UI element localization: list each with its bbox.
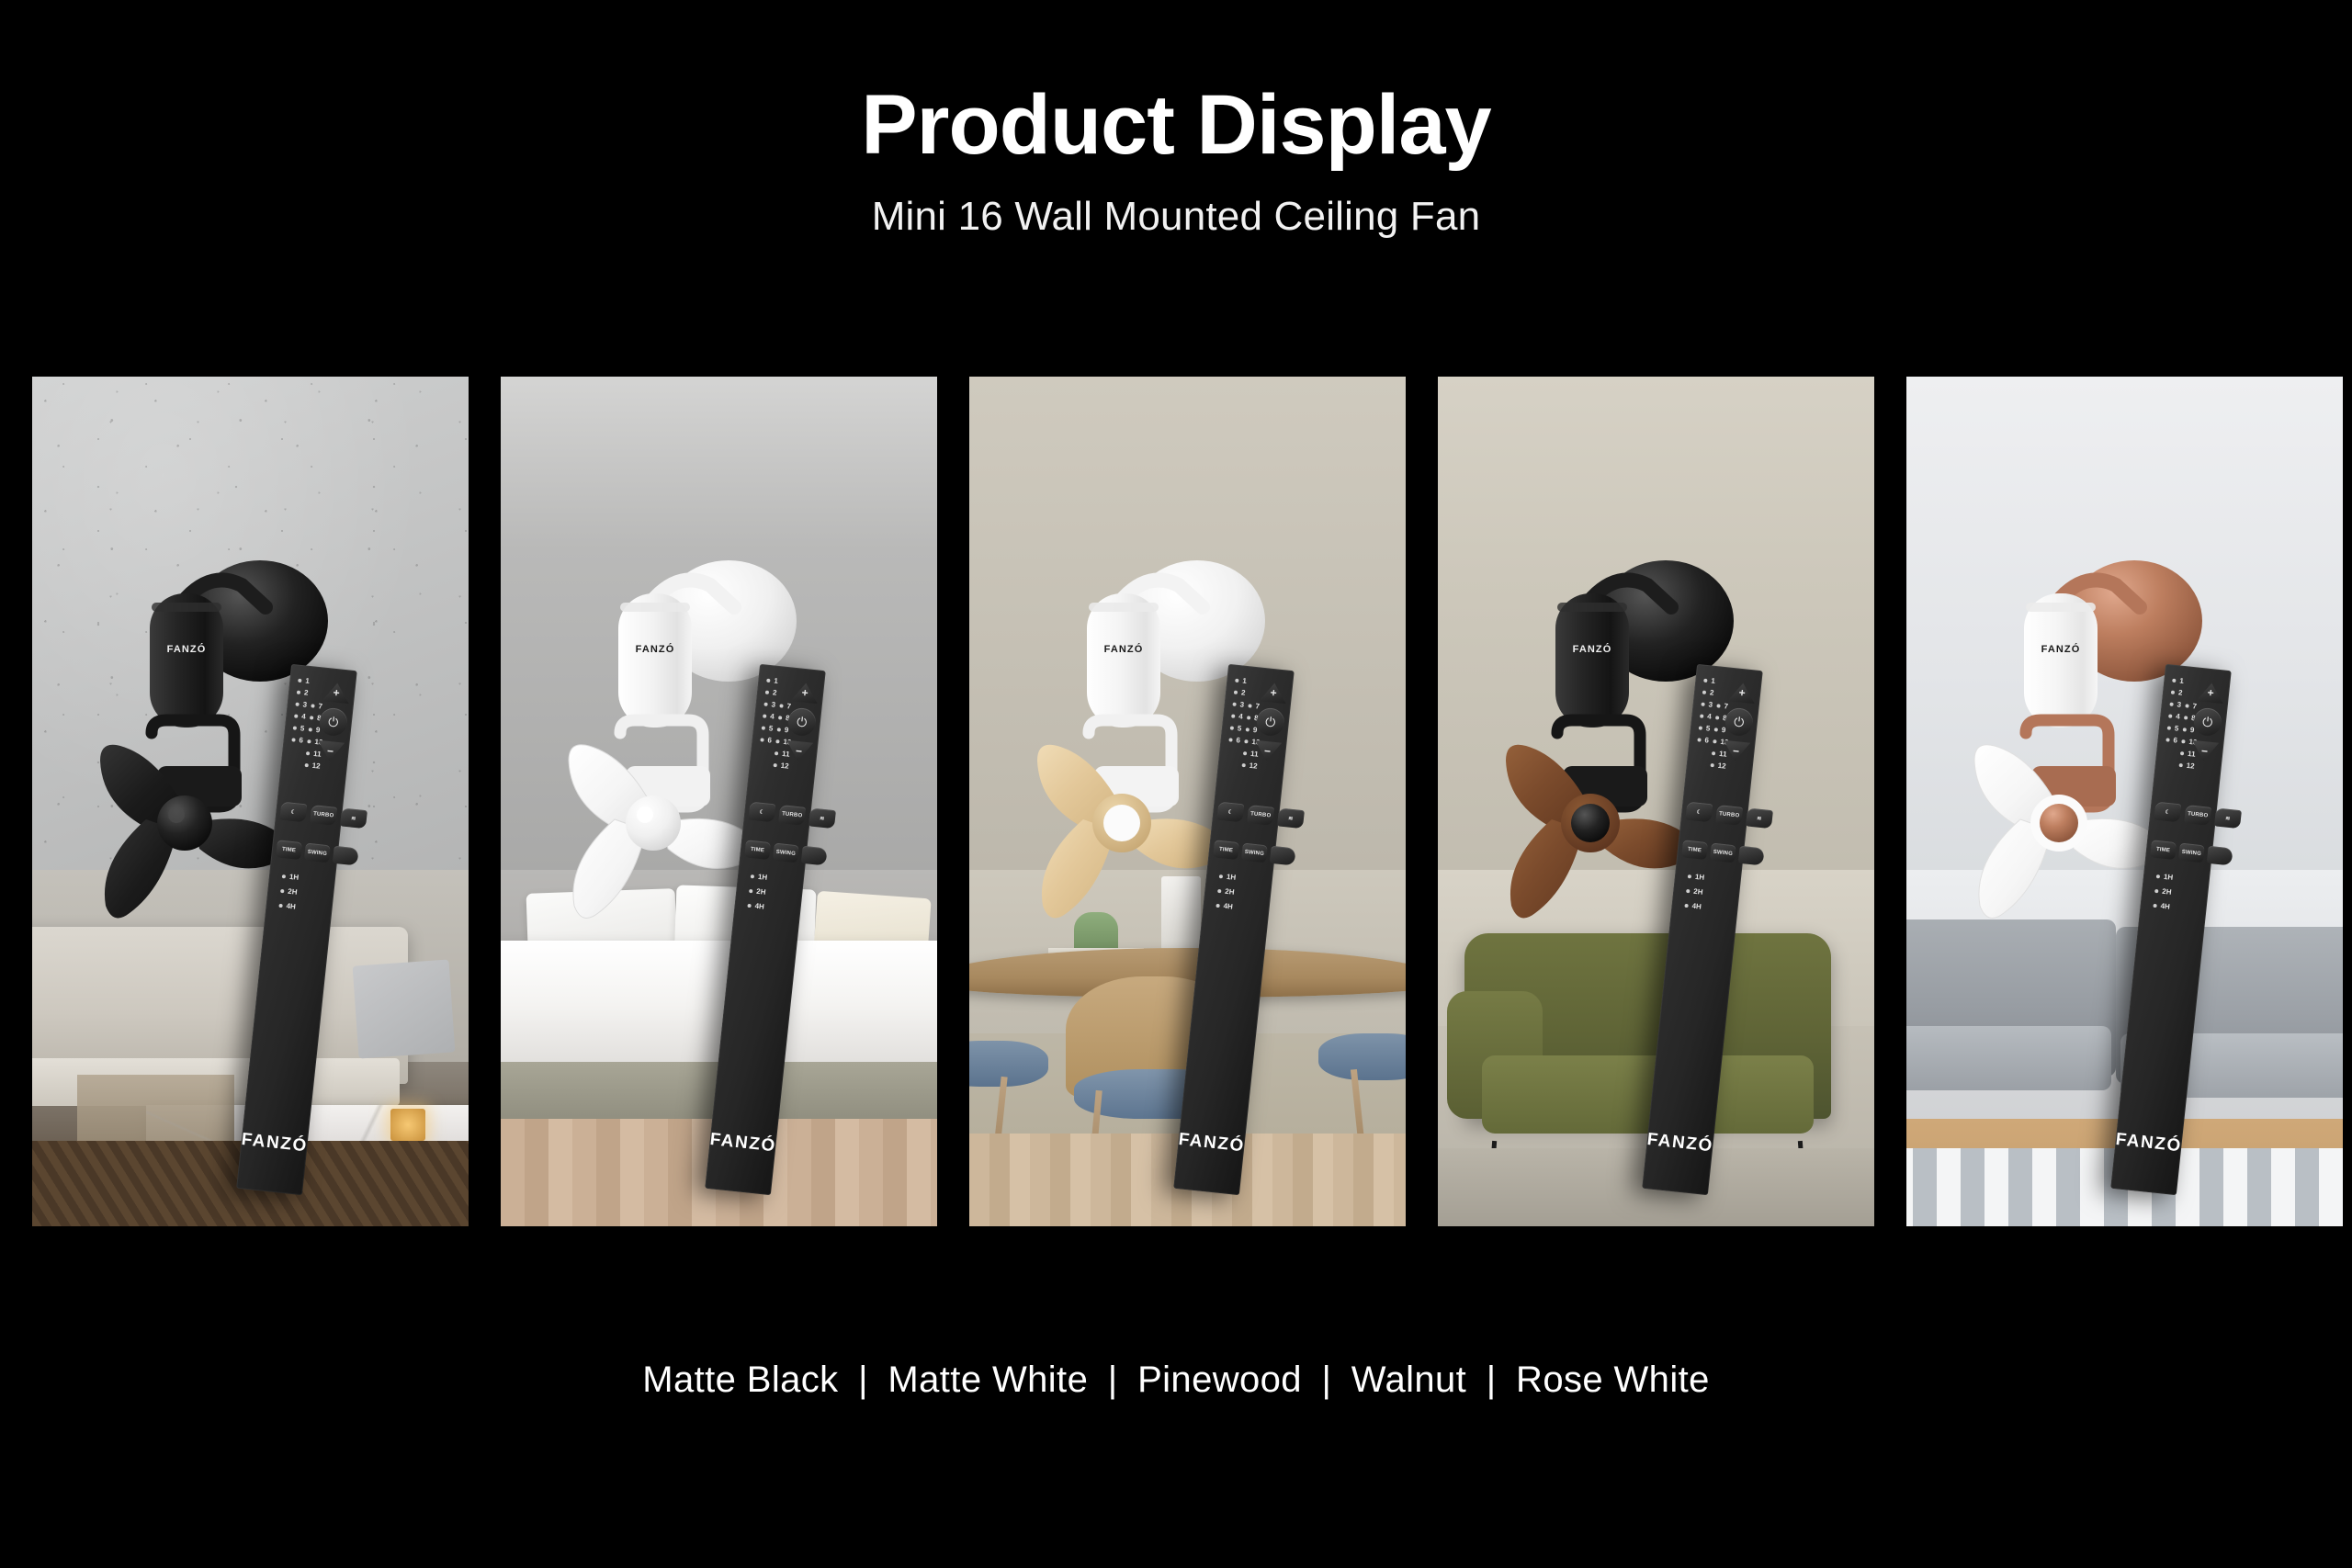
speed-dot: [2181, 739, 2185, 742]
timer-indicator: 4H: [2153, 900, 2170, 910]
speed-dot: [1699, 725, 1702, 728]
motor-housing: [1555, 593, 1629, 728]
speed-dot: [775, 750, 778, 754]
remote-brand-logo: FANZÓ: [2114, 1129, 2182, 1156]
page-title: Product Display: [0, 81, 2352, 170]
timer-indicators: 1H 2H 4H: [2153, 872, 2173, 911]
increase-speed-button[interactable]: +: [2195, 680, 2226, 705]
finish-option-1: Matte Black: [642, 1359, 838, 1400]
power-button[interactable]: ⏻: [1255, 706, 1285, 737]
speed-dot: [1702, 690, 1706, 694]
decrease-speed-button[interactable]: −: [314, 739, 345, 763]
speed-dot: [776, 727, 780, 730]
speed-dot: [295, 702, 299, 705]
speed-indicator: 6: [291, 733, 304, 746]
page-subtitle: Mini 16 Wall Mounted Ceiling Fan: [0, 194, 2352, 240]
speed-indicator: 3: [2169, 697, 2182, 710]
speed-indicator: 6: [2165, 733, 2178, 746]
speed-dot: [1232, 702, 1236, 705]
speed-dot: [1701, 702, 1704, 705]
speed-dot: [2178, 762, 2182, 766]
speed-dot: [1697, 737, 1701, 740]
speed-dot: [1235, 678, 1238, 682]
timer-indicator: 1H: [750, 872, 767, 882]
separator: |: [1312, 1359, 1340, 1401]
speed-indicator: 1: [297, 673, 310, 686]
increase-speed-button[interactable]: +: [1726, 680, 1758, 705]
extra-button[interactable]: [1269, 845, 1295, 865]
timer-indicator: 2H: [2154, 886, 2172, 896]
speed-dot: [775, 739, 779, 742]
blade-hub: [1571, 804, 1610, 842]
brand-logo-fan: FANZÓ: [167, 643, 207, 655]
sleep-mode-button[interactable]: ☾: [1216, 801, 1244, 822]
motor-housing: [2024, 593, 2098, 728]
speed-dot: [1243, 750, 1247, 754]
sleep-mode-button[interactable]: ☾: [1685, 801, 1713, 822]
speed-dot: [2182, 727, 2186, 730]
speed-indicator: 3: [763, 697, 776, 710]
speed-dot: [297, 690, 300, 694]
blade-hub: [2040, 804, 2078, 842]
natural-wind-button[interactable]: ≋: [1277, 807, 1305, 829]
speed-buttons: + ⏻ −: [1720, 680, 1758, 763]
speed-dot: [2169, 702, 2173, 705]
speed-indicator: 5: [2166, 721, 2179, 734]
natural-wind-button[interactable]: ≋: [1746, 807, 1773, 829]
timer-dot: [1686, 888, 1690, 892]
swing-button[interactable]: SWING: [1710, 842, 1736, 863]
timer-indicator: 2H: [1686, 886, 1703, 896]
timer-dot: [1219, 874, 1223, 877]
extra-button[interactable]: [800, 845, 827, 865]
time-button[interactable]: TIME: [1213, 840, 1239, 860]
decrease-speed-button[interactable]: −: [1720, 739, 1751, 763]
header: Product Display Mini 16 Wall Mounted Cei…: [0, 0, 2352, 240]
time-button[interactable]: TIME: [744, 840, 771, 860]
timer-dot: [751, 874, 754, 877]
blade-hub: [1103, 805, 1140, 841]
speed-dot: [1248, 703, 1251, 706]
speed-indicator: 1: [765, 673, 778, 686]
finish-option-5: Rose White: [1516, 1359, 1710, 1400]
swing-button[interactable]: SWING: [773, 842, 799, 863]
speed-dot: [1244, 739, 1248, 742]
speed-dot: [308, 727, 311, 730]
speed-dot: [306, 750, 310, 754]
speed-dot: [763, 702, 767, 705]
speed-dot: [1231, 713, 1235, 716]
time-button[interactable]: TIME: [276, 840, 302, 860]
swing-button[interactable]: SWING: [304, 842, 331, 863]
remote-brand-logo: FANZÓ: [1177, 1129, 1245, 1156]
timer-indicators: 1H 2H 4H: [1216, 872, 1236, 911]
speed-indicator: 2: [1233, 685, 1246, 698]
finish-options-caption: Matte Black | Matte White | Pinewood | W…: [0, 1359, 2352, 1401]
motor-housing: [618, 593, 692, 728]
finish-option-3: Pinewood: [1137, 1359, 1302, 1400]
speed-dot: [2180, 750, 2184, 754]
timer-indicator: 2H: [749, 886, 766, 896]
separator: |: [1099, 1359, 1127, 1401]
extra-button[interactable]: [332, 845, 358, 865]
speed-buttons: + ⏻ −: [783, 680, 820, 763]
speed-indicator: 1: [1702, 673, 1715, 686]
timer-dot: [278, 903, 282, 907]
speed-buttons: + ⏻ −: [1251, 680, 1289, 763]
timer-dot: [282, 874, 286, 877]
speed-indicator: 5: [1229, 721, 1242, 734]
timer-indicator: 4H: [278, 900, 296, 910]
increase-speed-button[interactable]: +: [789, 680, 820, 705]
speed-indicator: 4: [1699, 709, 1712, 722]
speed-indicator: 3: [1232, 697, 1245, 710]
speed-indicator: 4: [2167, 709, 2180, 722]
speed-dot: [763, 713, 766, 716]
speed-dot: [1247, 715, 1250, 718]
speed-dot: [1713, 739, 1716, 742]
brand-logo-fan: FANZÓ: [2041, 643, 2081, 655]
separator: |: [849, 1359, 877, 1401]
speed-dot: [2172, 678, 2176, 682]
finish-option-4: Walnut: [1351, 1359, 1466, 1400]
speed-buttons: + ⏻ −: [314, 680, 352, 763]
speed-dot: [1715, 715, 1719, 718]
speed-dot: [1228, 737, 1232, 740]
speed-dot: [1241, 762, 1245, 766]
turbo-button[interactable]: TURBO: [1247, 804, 1274, 825]
speed-indicator: 4: [762, 709, 775, 722]
timer-indicator: 4H: [1216, 900, 1233, 910]
power-button[interactable]: ⏻: [786, 706, 817, 737]
brand-logo-fan: FANZÓ: [1573, 643, 1612, 655]
natural-wind-button[interactable]: ≋: [2214, 807, 2242, 829]
speed-dot: [1230, 725, 1234, 728]
speed-dot: [1710, 762, 1713, 766]
sleep-mode-button[interactable]: ☾: [748, 801, 775, 822]
swing-button[interactable]: SWING: [1241, 842, 1268, 863]
speed-dot: [311, 703, 314, 706]
speed-indicator: 4: [293, 709, 306, 722]
increase-speed-button[interactable]: +: [1258, 680, 1289, 705]
timer-indicators: 1H 2H 4H: [1684, 872, 1704, 911]
brand-logo-fan: FANZÓ: [1104, 643, 1144, 655]
timer-dot: [1684, 903, 1688, 907]
turbo-button[interactable]: TURBO: [310, 804, 337, 825]
speed-dot: [766, 678, 770, 682]
speed-dot: [2185, 703, 2188, 706]
speed-dot: [291, 737, 295, 740]
turbo-button[interactable]: TURBO: [2184, 804, 2211, 825]
product-display-page: Product Display Mini 16 Wall Mounted Cei…: [0, 0, 2352, 1568]
extra-button[interactable]: [1737, 845, 1764, 865]
speed-dot: [2171, 690, 2175, 694]
speed-indicator: 6: [760, 733, 773, 746]
turbo-button[interactable]: TURBO: [778, 804, 806, 825]
product-panel-matte-white[interactable]: FANZÓ 1 2 3: [501, 377, 937, 1226]
speed-indicator: 4: [1230, 709, 1243, 722]
product-panel-pinewood[interactable]: FANZÓ 1 2 3: [969, 377, 1406, 1226]
speed-dot: [1713, 727, 1717, 730]
speed-dot: [310, 715, 313, 718]
speed-dot: [2168, 713, 2172, 716]
speed-dot: [1700, 713, 1703, 716]
speed-dot: [762, 725, 765, 728]
power-button[interactable]: ⏻: [318, 706, 348, 737]
speed-dot: [2184, 715, 2188, 718]
speed-indicator: 5: [761, 721, 774, 734]
speed-dot: [2167, 725, 2171, 728]
timer-indicators: 1H 2H 4H: [278, 872, 299, 911]
speed-dot: [2165, 737, 2169, 740]
speed-dot: [307, 739, 311, 742]
timer-indicator: 4H: [747, 900, 764, 910]
speed-indicator: 5: [292, 721, 305, 734]
extra-button[interactable]: [2206, 845, 2233, 865]
timer-indicator: 1H: [281, 872, 299, 882]
timer-dot: [2154, 888, 2158, 892]
power-button[interactable]: ⏻: [1724, 706, 1754, 737]
decrease-speed-button[interactable]: −: [1251, 739, 1283, 763]
product-panel-walnut[interactable]: FANZÓ 1 2 3: [1438, 377, 1874, 1226]
speed-indicator: 2: [1702, 685, 1714, 698]
speed-indicator: 2: [764, 685, 777, 698]
natural-wind-button[interactable]: ≋: [808, 807, 836, 829]
turbo-button[interactable]: TURBO: [1715, 804, 1743, 825]
speed-indicator: 1: [1234, 673, 1247, 686]
speed-dot: [304, 762, 308, 766]
speed-indicator: 2: [2170, 685, 2183, 698]
speed-dot: [779, 703, 783, 706]
timer-indicators: 1H 2H 4H: [747, 872, 767, 911]
speed-dot: [760, 737, 763, 740]
motor-housing: [150, 593, 223, 728]
speed-dot: [294, 713, 298, 716]
product-panel-strip: FANZÓ 1 2 3: [32, 377, 2324, 1226]
motor-housing: [1087, 593, 1160, 728]
timer-dot: [2153, 903, 2156, 907]
natural-wind-button[interactable]: ≋: [340, 807, 367, 829]
separator: |: [1477, 1359, 1506, 1401]
time-button[interactable]: TIME: [2150, 840, 2177, 860]
speed-dot: [1716, 703, 1720, 706]
decrease-speed-button[interactable]: −: [783, 739, 814, 763]
timer-indicator: 2H: [280, 886, 298, 896]
timer-indicator: 1H: [1687, 872, 1704, 882]
product-panel-matte-black[interactable]: FANZÓ 1 2 3: [32, 377, 469, 1226]
timer-indicator: 4H: [1684, 900, 1702, 910]
speed-indicator: 2: [296, 685, 309, 698]
timer-dot: [2156, 874, 2160, 877]
speed-dot: [293, 725, 297, 728]
speed-indicator: 6: [1228, 733, 1241, 746]
finish-option-2: Matte White: [888, 1359, 1088, 1400]
time-button[interactable]: TIME: [1681, 840, 1708, 860]
speed-indicator: 3: [295, 697, 308, 710]
power-button[interactable]: ⏻: [2192, 706, 2222, 737]
speed-buttons: + ⏻ −: [2188, 680, 2226, 763]
product-panel-rose-white[interactable]: FANZÓ 1 2 3: [1906, 377, 2343, 1226]
speed-dot: [778, 715, 782, 718]
speed-indicator: 6: [1697, 733, 1710, 746]
increase-speed-button[interactable]: +: [321, 680, 352, 705]
speed-dot: [1703, 678, 1707, 682]
speed-dot: [1712, 750, 1715, 754]
speed-dot: [298, 678, 301, 682]
speed-dot: [773, 762, 776, 766]
decrease-speed-button[interactable]: −: [2188, 739, 2220, 763]
blade-hub: [157, 795, 212, 851]
timer-dot: [749, 888, 752, 892]
timer-dot: [747, 903, 751, 907]
speed-indicator: 5: [1698, 721, 1711, 734]
speed-indicator: 1: [2171, 673, 2184, 686]
timer-indicator: 2H: [1217, 886, 1235, 896]
remote-brand-logo: FANZÓ: [708, 1129, 776, 1156]
blade-hub: [626, 795, 681, 851]
timer-indicator: 1H: [1218, 872, 1236, 882]
sleep-mode-button[interactable]: ☾: [2154, 801, 2181, 822]
timer-dot: [1688, 874, 1691, 877]
timer-dot: [1216, 903, 1219, 907]
remote-brand-logo: FANZÓ: [240, 1129, 308, 1156]
brand-logo-fan: FANZÓ: [636, 643, 675, 655]
timer-dot: [1217, 888, 1221, 892]
timer-dot: [280, 888, 284, 892]
speed-indicator: 3: [1701, 697, 1713, 710]
remote-brand-logo: FANZÓ: [1645, 1129, 1713, 1156]
speed-dot: [1245, 727, 1249, 730]
swing-button[interactable]: SWING: [2178, 842, 2205, 863]
timer-indicator: 1H: [2155, 872, 2173, 882]
sleep-mode-button[interactable]: ☾: [279, 801, 307, 822]
speed-dot: [1234, 690, 1238, 694]
speed-dot: [765, 690, 769, 694]
